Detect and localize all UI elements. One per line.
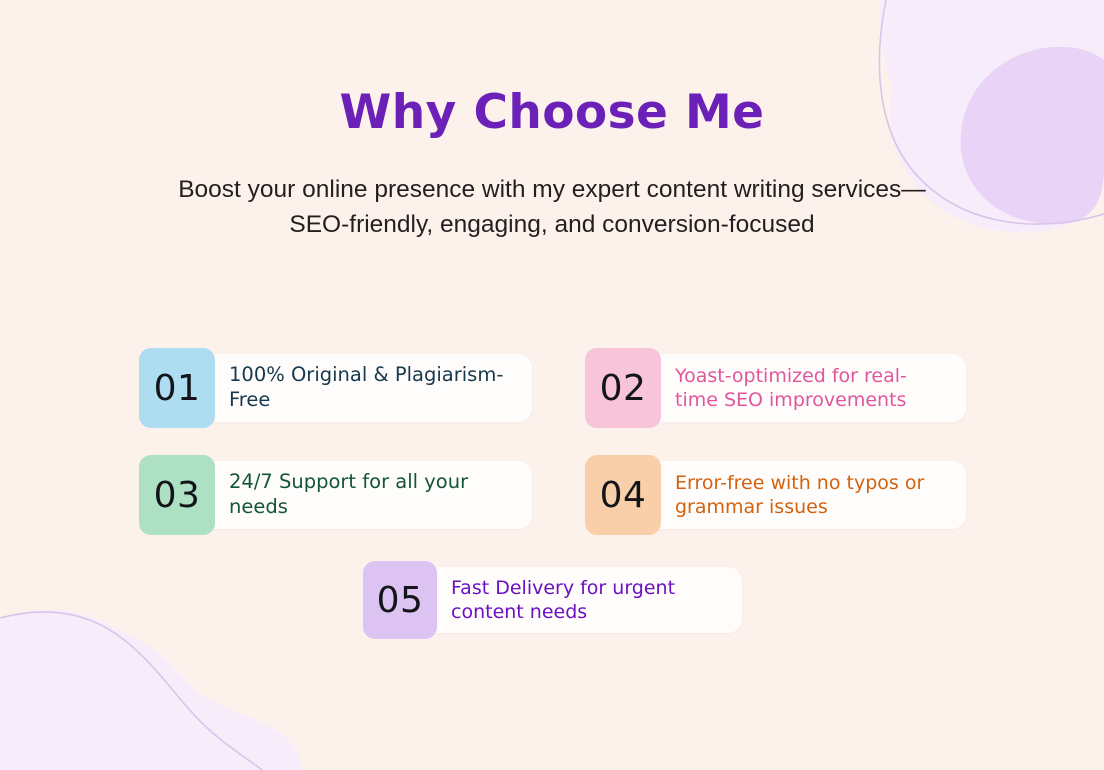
feature-text-03: 24/7 Support for all your needs: [229, 470, 516, 520]
feature-card-04[interactable]: 04 Error-free with no typos or grammar i…: [585, 461, 966, 529]
feature-text-01: 100% Original & Plagiarism-Free: [229, 363, 516, 413]
feature-card-01[interactable]: 01 100% Original & Plagiarism-Free: [139, 354, 532, 422]
feature-card-05[interactable]: 05 Fast Delivery for urgent content need…: [363, 567, 742, 633]
feature-panel-01: 100% Original & Plagiarism-Free: [201, 354, 532, 422]
feature-number-badge-01: 01: [139, 348, 215, 428]
feature-panel-02: Yoast-optimized for real-time SEO improv…: [647, 354, 966, 422]
page-title: Why Choose Me: [0, 88, 1104, 137]
feature-text-04: Error-free with no typos or grammar issu…: [675, 471, 925, 520]
feature-number-badge-05: 05: [363, 561, 437, 639]
feature-text-02: Yoast-optimized for real-time SEO improv…: [675, 364, 925, 413]
feature-card-02[interactable]: 02 Yoast-optimized for real-time SEO imp…: [585, 354, 966, 422]
feature-panel-03: 24/7 Support for all your needs: [201, 461, 532, 529]
feature-number-badge-04: 04: [585, 455, 661, 535]
decor-blob-bottom-pale-2: [0, 622, 300, 770]
slide-canvas: Why Choose Me Boost your online presence…: [0, 0, 1104, 770]
feature-text-05: Fast Delivery for urgent content needs: [451, 576, 701, 625]
feature-panel-04: Error-free with no typos or grammar issu…: [647, 461, 966, 529]
feature-number-badge-03: 03: [139, 455, 215, 535]
feature-card-03[interactable]: 03 24/7 Support for all your needs: [139, 461, 532, 529]
feature-number-badge-02: 02: [585, 348, 661, 428]
header-block: Why Choose Me Boost your online presence…: [0, 0, 1104, 243]
page-subtitle: Boost your online presence with my exper…: [172, 173, 932, 243]
feature-panel-05: Fast Delivery for urgent content needs: [423, 567, 742, 633]
